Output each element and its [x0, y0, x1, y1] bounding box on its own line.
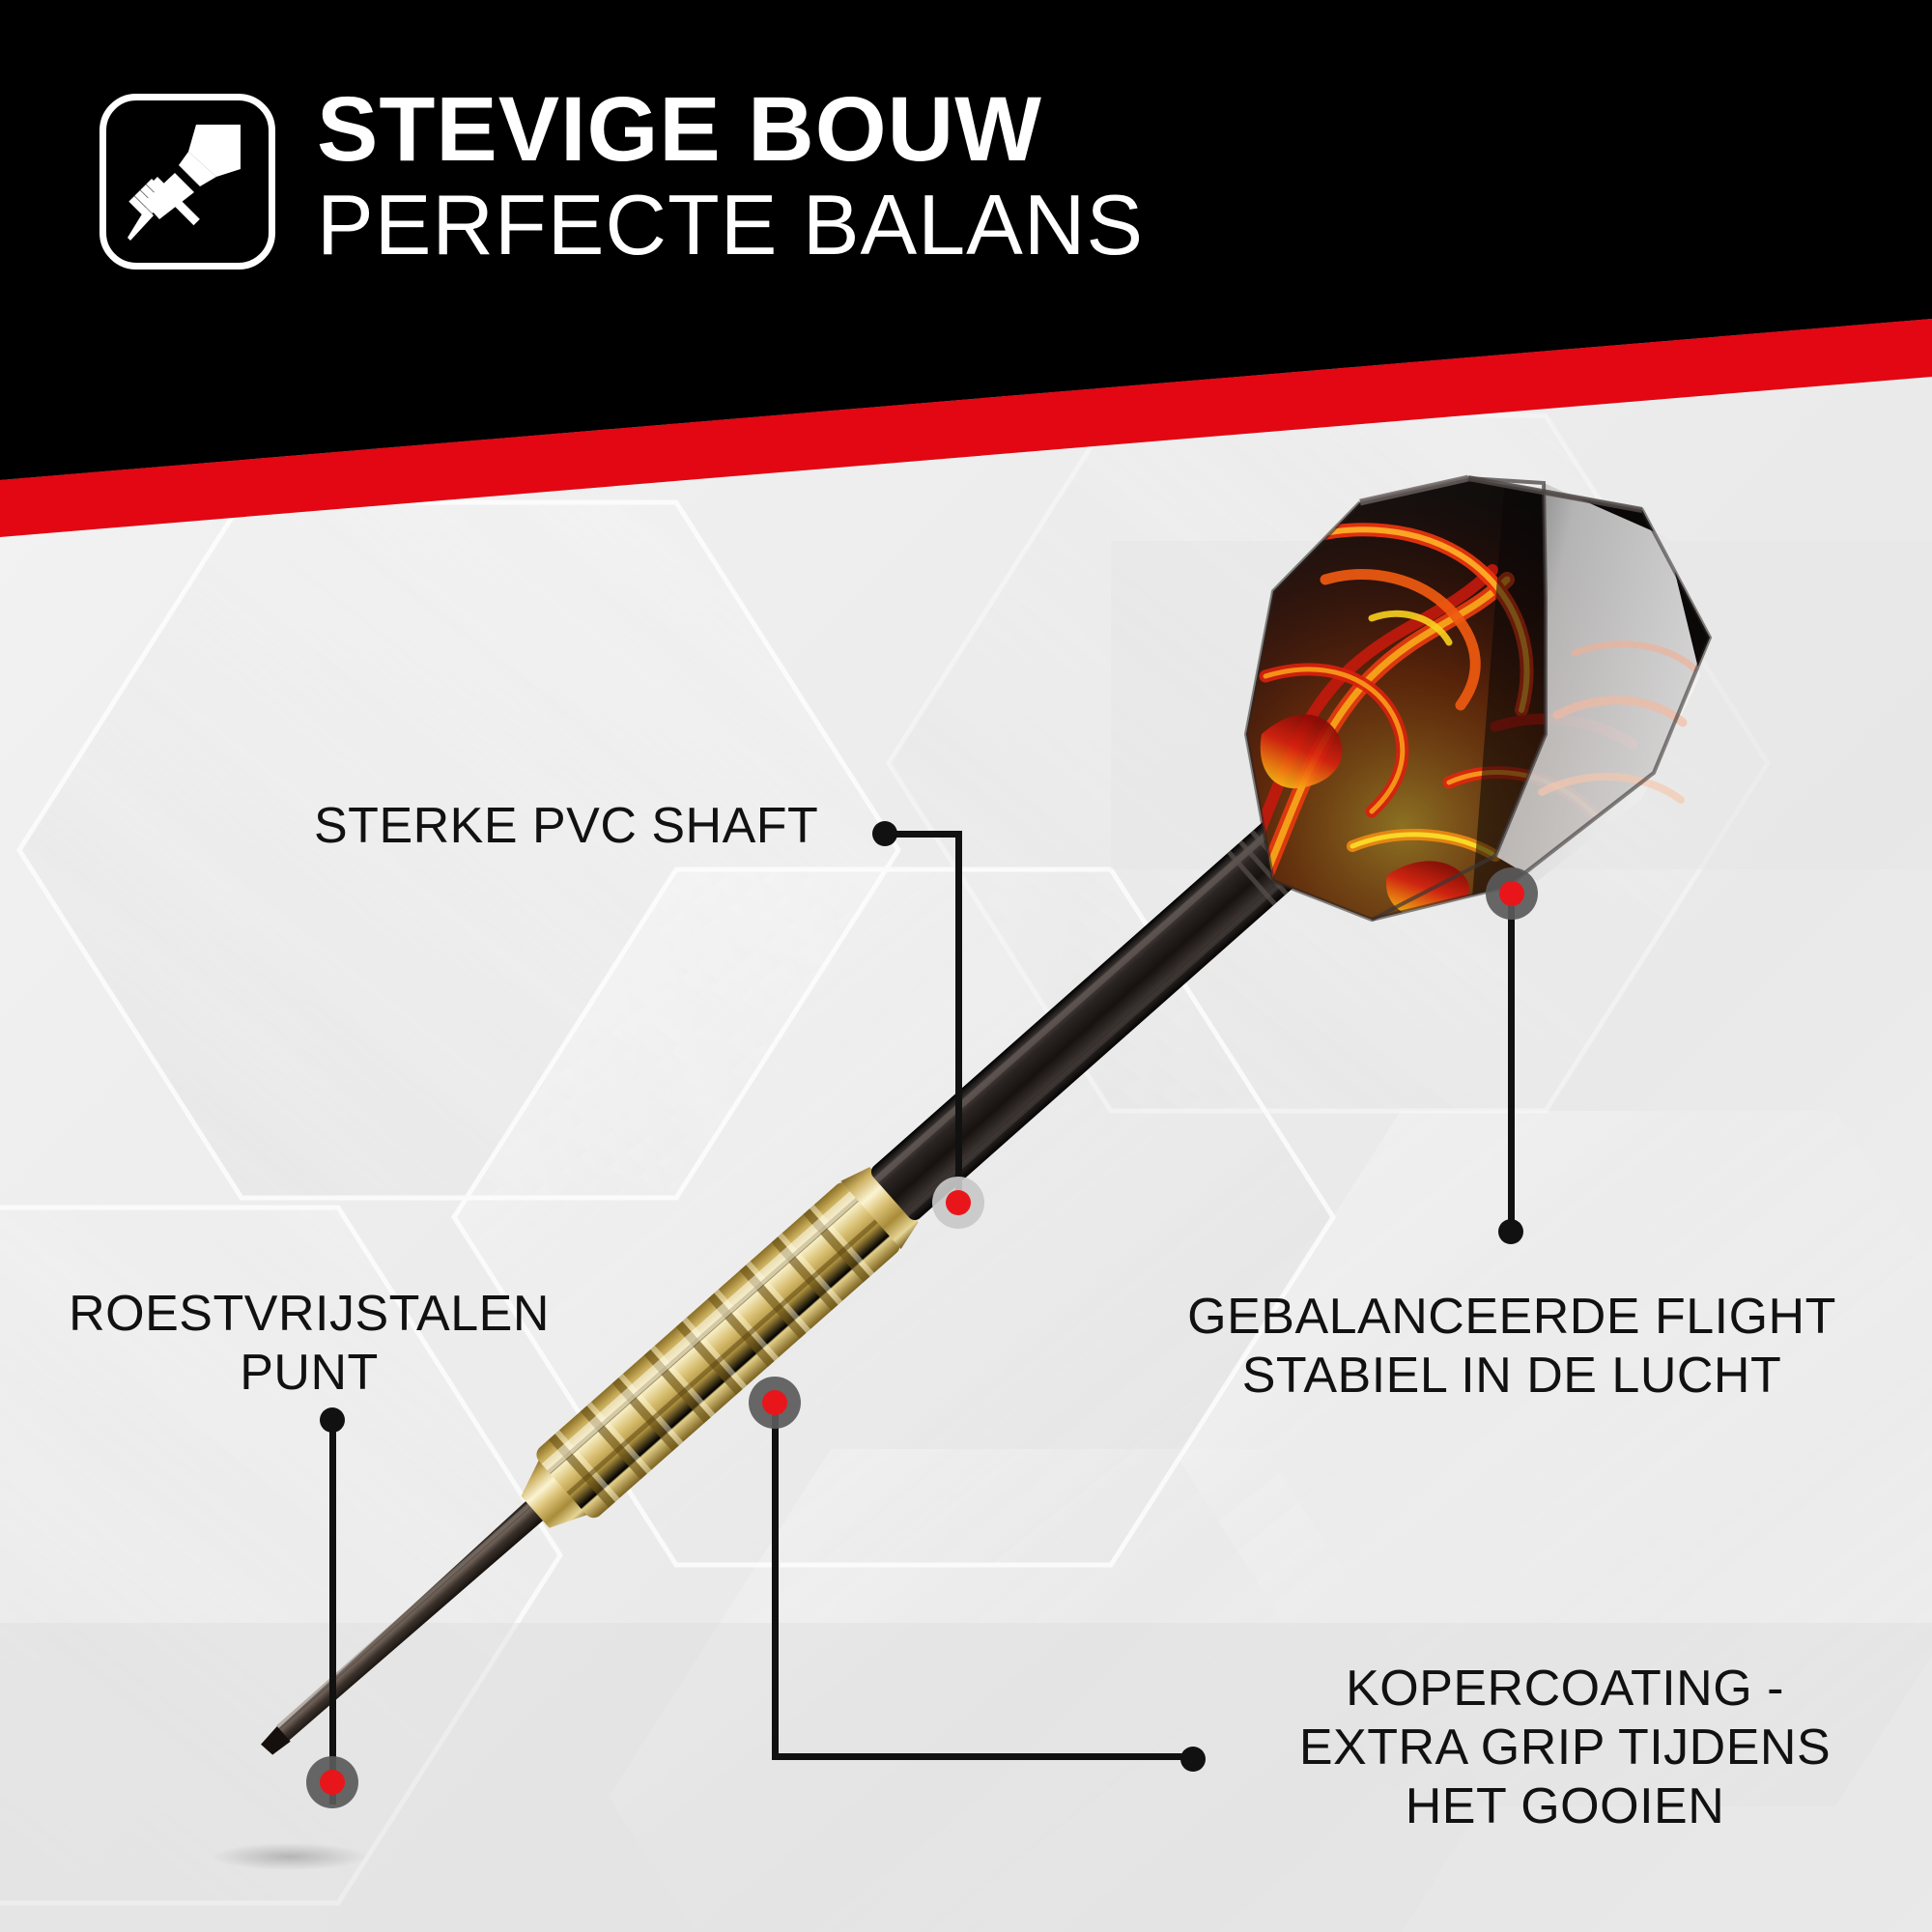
callout-flight-label-line2: STABIEL IN DE LUCHT — [1130, 1347, 1893, 1405]
dart-icon — [125, 119, 250, 244]
callout-coating-label-line2: EXTRA GRIP TIJDENS — [1227, 1719, 1903, 1776]
flame-flight — [1227, 454, 1739, 947]
callout-shaft-marker — [932, 1177, 984, 1229]
dart-product-image — [0, 0, 1932, 1932]
page-title-main: STEVIGE BOUW — [317, 83, 1144, 177]
callout-point-end-dot — [320, 1407, 345, 1433]
tip-shadow — [213, 1843, 367, 1870]
dart-icon-frame — [99, 94, 275, 270]
callout-flight-marker — [1486, 867, 1538, 920]
callout-point-marker — [306, 1756, 358, 1808]
infographic-canvas: STEVIGE BOUW PERFECTE BALANS — [0, 0, 1932, 1932]
page-title-sub: PERFECTE BALANS — [317, 181, 1144, 270]
black-pvc-shaft — [868, 812, 1320, 1223]
callout-flight-label-line1: GEBALANCEERDE FLIGHT — [1130, 1288, 1893, 1346]
steel-point — [256, 1496, 548, 1759]
callout-coating-label-line1: KOPERCOATING - — [1227, 1660, 1903, 1718]
callout-point-label-line1: ROESTVRIJSTALEN — [29, 1285, 589, 1343]
callout-point-leader-vertical — [329, 1418, 336, 1804]
callout-coating-marker — [749, 1377, 801, 1429]
callout-point-label-line2: PUNT — [29, 1344, 589, 1402]
callout-shaft-end-dot — [872, 821, 897, 846]
callout-coating-end-dot — [1180, 1747, 1206, 1772]
callout-flight-leader-vertical — [1508, 894, 1515, 1227]
callout-flight-end-dot — [1498, 1219, 1523, 1244]
callout-coating-leader-vertical — [772, 1403, 779, 1760]
callout-coating-label-line3: HET GOOIEN — [1227, 1777, 1903, 1835]
callout-shaft-label: STERKE PVC SHAFT — [314, 797, 818, 855]
callout-coating-leader-horizontal — [772, 1753, 1192, 1760]
callout-shaft-leader-vertical — [955, 831, 962, 1203]
header-title-group: STEVIGE BOUW PERFECTE BALANS — [317, 83, 1144, 269]
